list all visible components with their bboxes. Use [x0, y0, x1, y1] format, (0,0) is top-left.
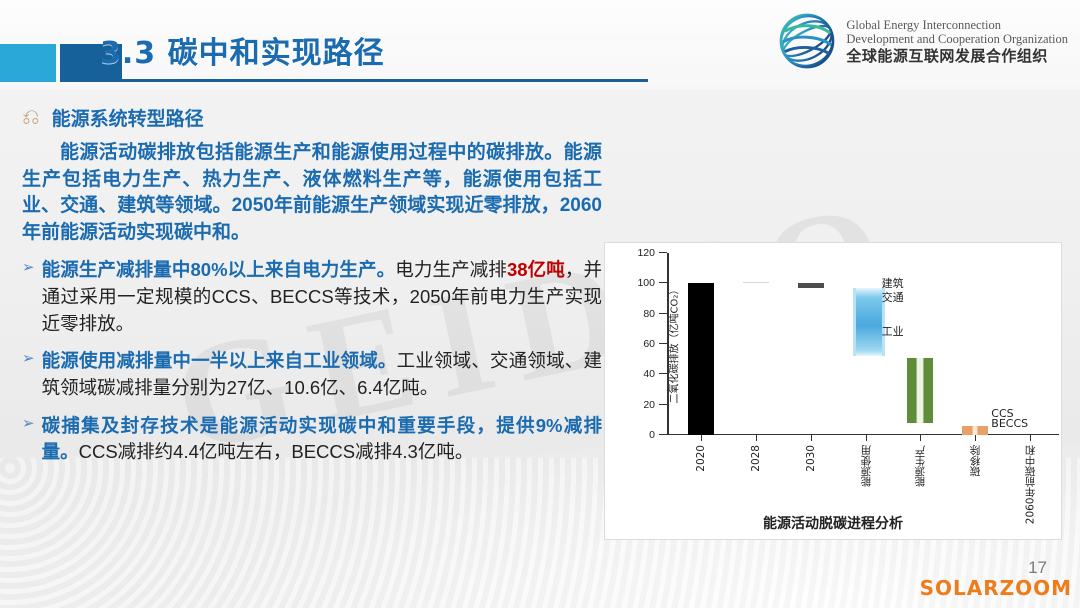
section-heading: ⎌ 能源系统转型路径 — [22, 104, 602, 131]
globe-logo-icon — [776, 10, 838, 72]
chart-y-tick — [659, 252, 667, 253]
bullet-item: ➢碳捕集及封存技术是能源活动实现碳中和重要手段，提供9%减排量。CCS减排约4.… — [22, 413, 602, 466]
chart-x-tick-label: 能源使用 — [858, 445, 873, 487]
bullet-text: 能源使用减排量中一半以上来自工业领域。工业领域、交通领域、建筑领域碳减排量分别为… — [42, 348, 602, 401]
bullet-arrow-icon: ➢ — [22, 257, 35, 337]
chart-annotation: BECCS — [991, 417, 1028, 430]
chart-x-tick-label: 碳移除 — [968, 445, 983, 477]
chart-y-tick-label: 60 — [643, 338, 655, 350]
chart-x-tick-label: 2028 — [750, 445, 762, 472]
section-marker-icon: ⎌ — [22, 106, 40, 128]
logo-text-block: Global Energy Interconnection Developmen… — [846, 18, 1068, 65]
chart-y-tick-label: 120 — [637, 247, 655, 259]
logo-english-line-2: Development and Cooperation Organization — [846, 32, 1068, 46]
chart-bar — [853, 288, 885, 356]
bullet-text-run: 38亿吨 — [507, 259, 565, 280]
bullet-text-run: CCS减排约4.4亿吨左右，BECCS减排4.3亿吨。 — [79, 441, 474, 462]
chart-bar — [798, 283, 824, 288]
chart-y-tick-label: 0 — [649, 429, 655, 441]
chart-x-tick — [811, 435, 812, 441]
logo-chinese-line: 全球能源互联网发展合作组织 — [846, 48, 1068, 65]
chart-y-tick-label: 80 — [643, 308, 655, 320]
section-title: 能源系统转型路径 — [52, 104, 204, 131]
page-number: 17 — [1028, 558, 1047, 578]
chart-y-tick-label: 100 — [637, 277, 655, 289]
chart-y-axis — [667, 253, 669, 435]
organization-logo: Global Energy Interconnection Developmen… — [776, 10, 1068, 72]
chart-title: 能源活动脱碳进程分析 — [605, 513, 1061, 533]
bullet-list: ➢能源生产减排量中80%以上来自电力生产。电力生产减排38亿吨，并通过采用一定规… — [22, 257, 602, 465]
solarzoom-brand-watermark: SOLARZOOM — [920, 576, 1072, 600]
bullet-text: 能源生产减排量中80%以上来自电力生产。电力生产减排38亿吨，并通过采用一定规模… — [42, 257, 602, 337]
slide-header: 3.3 碳中和实现路径 — [0, 0, 1080, 90]
chart-x-tick — [756, 435, 757, 441]
chart-plot-area: 二氧化碳排放（亿吨CO₂） 020406080100120 2020202820… — [667, 253, 1051, 435]
chart-annotation: 交通 — [882, 289, 904, 305]
chart-x-tick — [701, 435, 702, 441]
chart-y-tick — [659, 343, 667, 344]
chart-y-tick — [659, 404, 667, 405]
slide-canvas: GEIDCO 3.3 碳中和实现路径 — [0, 0, 1080, 608]
bullet-text: 碳捕集及封存技术是能源活动实现碳中和重要手段，提供9%减排量。CCS减排约4.4… — [42, 413, 602, 466]
chart-x-tick-label: 2030 — [805, 445, 817, 472]
bullet-item: ➢能源使用减排量中一半以上来自工业领域。工业领域、交通领域、建筑领域碳减排量分别… — [22, 348, 602, 401]
header-accent-square-light — [0, 44, 56, 82]
chart-x-tick — [920, 435, 921, 441]
header-underline — [88, 79, 648, 82]
bullet-arrow-icon: ➢ — [22, 348, 35, 401]
chart-x-axis — [667, 434, 1059, 436]
page-title: 3.3 碳中和实现路径 — [100, 28, 385, 72]
bullet-text-run: 电力生产减排 — [395, 259, 507, 280]
bullet-text-run: 能源生产减排量中80%以上来自电力生产。 — [42, 259, 396, 280]
intro-paragraph: 能源活动碳排放包括能源生产和能源使用过程中的碳排放。能源生产包括电力生产、热力生… — [22, 140, 602, 246]
chart-y-tick — [659, 282, 667, 283]
chart-bar — [688, 283, 714, 435]
chart-bar — [743, 282, 769, 284]
chart-bar — [962, 426, 988, 435]
chart-y-tick — [659, 434, 667, 435]
chart-x-tick-label: 能源生产 — [913, 445, 928, 487]
chart-annotation: 工业 — [882, 323, 904, 339]
chart-x-tick — [866, 435, 867, 441]
chart-x-tick — [975, 435, 976, 441]
bullet-item: ➢能源生产减排量中80%以上来自电力生产。电力生产减排38亿吨，并通过采用一定规… — [22, 257, 602, 337]
chart-y-tick-label: 40 — [643, 368, 655, 380]
chart-panel: 二氧化碳排放（亿吨CO₂） 020406080100120 2020202820… — [604, 242, 1062, 540]
chart-x-tick-label: 2020 — [695, 445, 707, 472]
chart-x-tick — [1030, 435, 1031, 441]
logo-english-line-1: Global Energy Interconnection — [846, 18, 1068, 32]
chart-bar — [907, 358, 933, 423]
bullet-text-run: 能源使用减排量中一半以上来自工业领域。 — [42, 350, 397, 371]
chart-y-tick-label: 20 — [643, 399, 655, 411]
slide-body: ⎌ 能源系统转型路径 能源活动碳排放包括能源生产和能源使用过程中的碳排放。能源生… — [22, 104, 602, 466]
chart-y-tick — [659, 313, 667, 314]
chart-y-tick — [659, 373, 667, 374]
bullet-arrow-icon: ➢ — [22, 413, 35, 466]
